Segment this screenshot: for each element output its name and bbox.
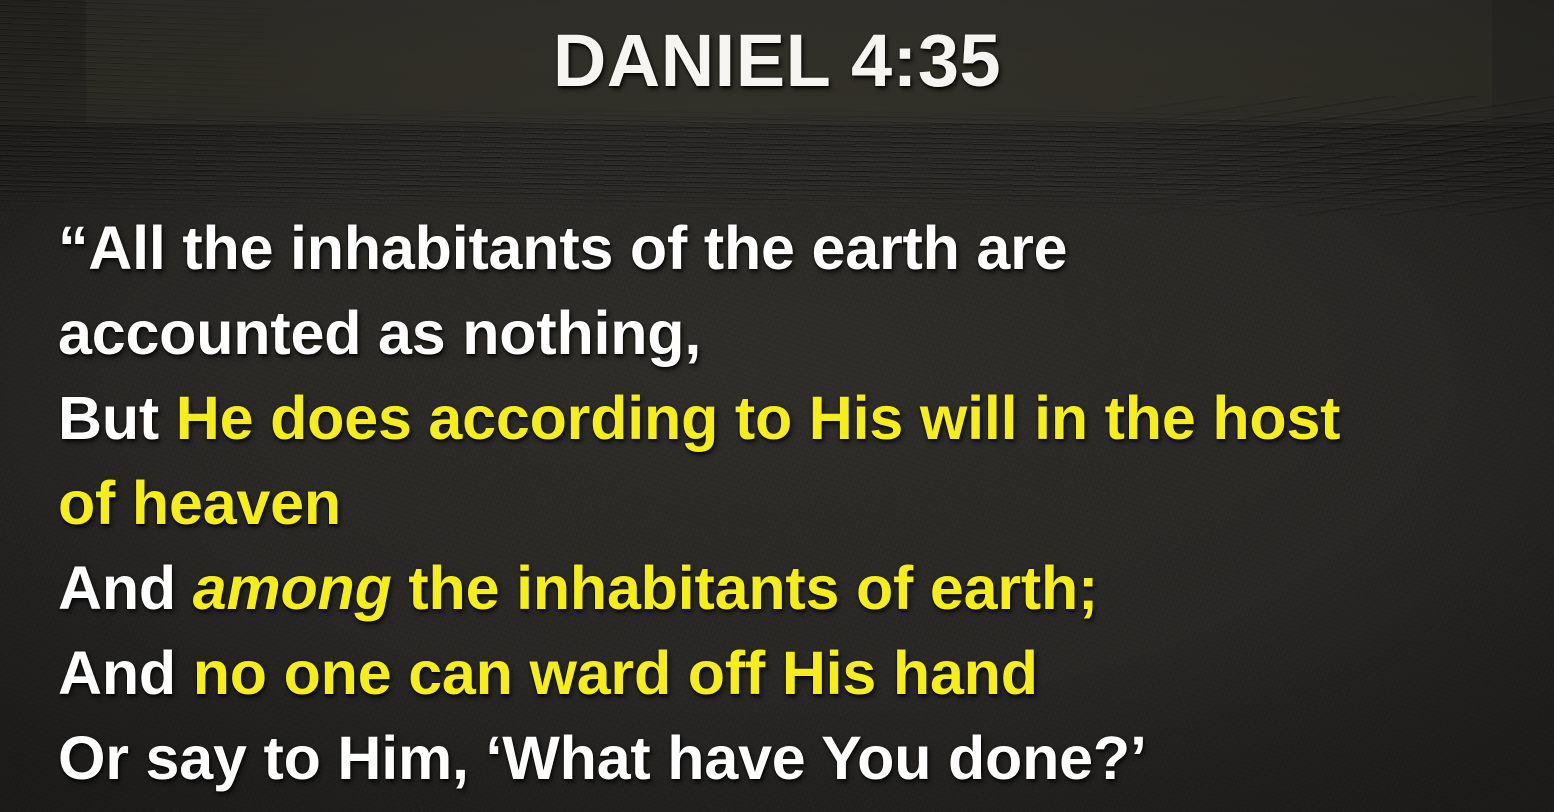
verse-line: And among the inhabitants of earth; xyxy=(58,546,1528,631)
scripture-reference-title: DANIEL 4:35 xyxy=(0,18,1554,103)
scripture-slide: DANIEL 4:35 “All the inhabitants of the … xyxy=(0,0,1554,812)
verse-body: “All the inhabitants of the earth areacc… xyxy=(58,206,1528,801)
verse-text-highlight: of heaven xyxy=(58,469,341,537)
verse-text-plain: And xyxy=(58,554,193,622)
verse-text-highlight: the inhabitants of earth; xyxy=(392,554,1099,622)
slide-content: DANIEL 4:35 “All the inhabitants of the … xyxy=(0,0,1554,812)
verse-text-highlight: He does according to His will in the hos… xyxy=(176,384,1341,452)
verse-text-plain: Or say to Him, ‘What have You done?’ xyxy=(58,724,1147,792)
verse-text-highlight: among xyxy=(193,554,392,622)
verse-line: of heaven xyxy=(58,461,1528,546)
verse-text-plain: And xyxy=(58,639,193,707)
verse-text-plain: But xyxy=(58,384,176,452)
verse-line: And no one can ward off His hand xyxy=(58,631,1528,716)
verse-line: But He does according to His will in the… xyxy=(58,376,1528,461)
verse-line: “All the inhabitants of the earth are xyxy=(58,206,1528,291)
verse-line: accounted as nothing, xyxy=(58,291,1528,376)
verse-line: Or say to Him, ‘What have You done?’ xyxy=(58,716,1528,801)
verse-text-plain: “All the inhabitants of the earth are xyxy=(58,214,1067,282)
verse-text-highlight: no one can ward off His hand xyxy=(193,639,1038,707)
verse-text-plain: accounted as nothing, xyxy=(58,299,701,367)
